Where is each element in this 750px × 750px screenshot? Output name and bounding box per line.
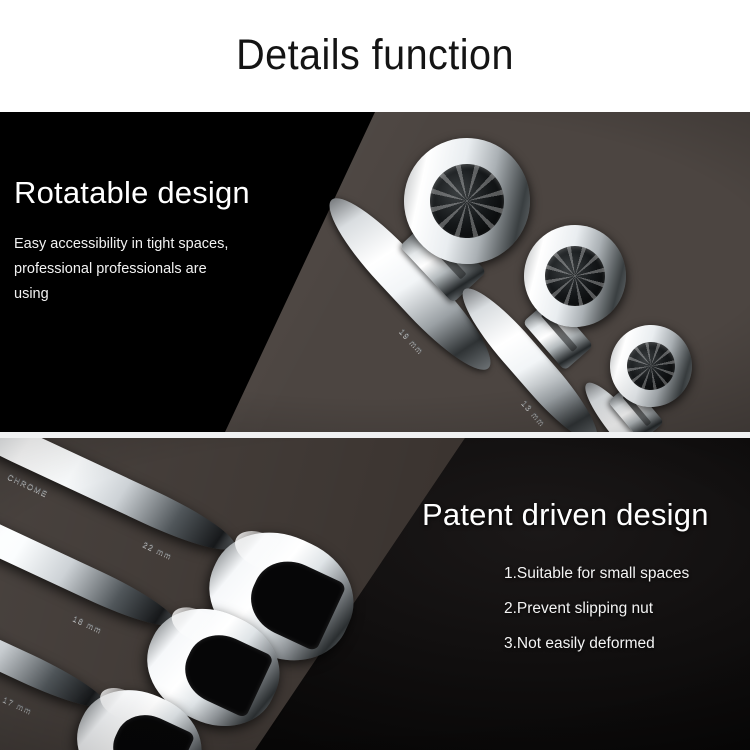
patent-list: 1.Suitable for small spaces 2.Prevent sl…: [504, 556, 742, 661]
panel-patent-driven-design: CHROME 22 mm CHROME 18 mm 17 mm: [0, 438, 750, 750]
patent-list-item-2: 2.Prevent slipping nut: [504, 591, 742, 626]
page-title: Details function: [30, 30, 720, 80]
rotatable-body-line-3: using: [14, 282, 314, 307]
wrench-size-stamp: 17 mm: [2, 695, 34, 716]
rotatable-text-block: Rotatable design Easy accessibility in t…: [14, 174, 314, 307]
rotatable-body: Easy accessibility in tight spaces, prof…: [14, 232, 314, 307]
rotatable-heading: Rotatable design: [14, 174, 314, 212]
rotatable-body-line-2: professional professionals are: [14, 257, 314, 282]
rotatable-body-line-1: Easy accessibility in tight spaces,: [14, 232, 314, 257]
wrench-size-stamp: 19 mm: [398, 327, 426, 356]
patent-text-block: Patent driven design 1.Suitable for smal…: [422, 496, 742, 661]
patent-list-item-3: 3.Not easily deformed: [504, 626, 742, 661]
wrench-jaw-opening: [103, 705, 195, 750]
header-band: Details function: [0, 0, 750, 112]
wrench-bore-teeth: [622, 337, 680, 395]
product-detail-image: Details function 19 mm 13 mm: [0, 0, 750, 750]
patent-list-item-1: 1.Suitable for small spaces: [504, 556, 742, 591]
wrench-shaft: [0, 561, 112, 718]
wrench-ratchet-small: [570, 287, 750, 432]
patent-heading: Patent driven design: [422, 496, 742, 534]
panel-rotatable-design: 19 mm 13 mm: [0, 112, 750, 432]
wrench-openend-17mm: 17 mm: [0, 573, 270, 750]
